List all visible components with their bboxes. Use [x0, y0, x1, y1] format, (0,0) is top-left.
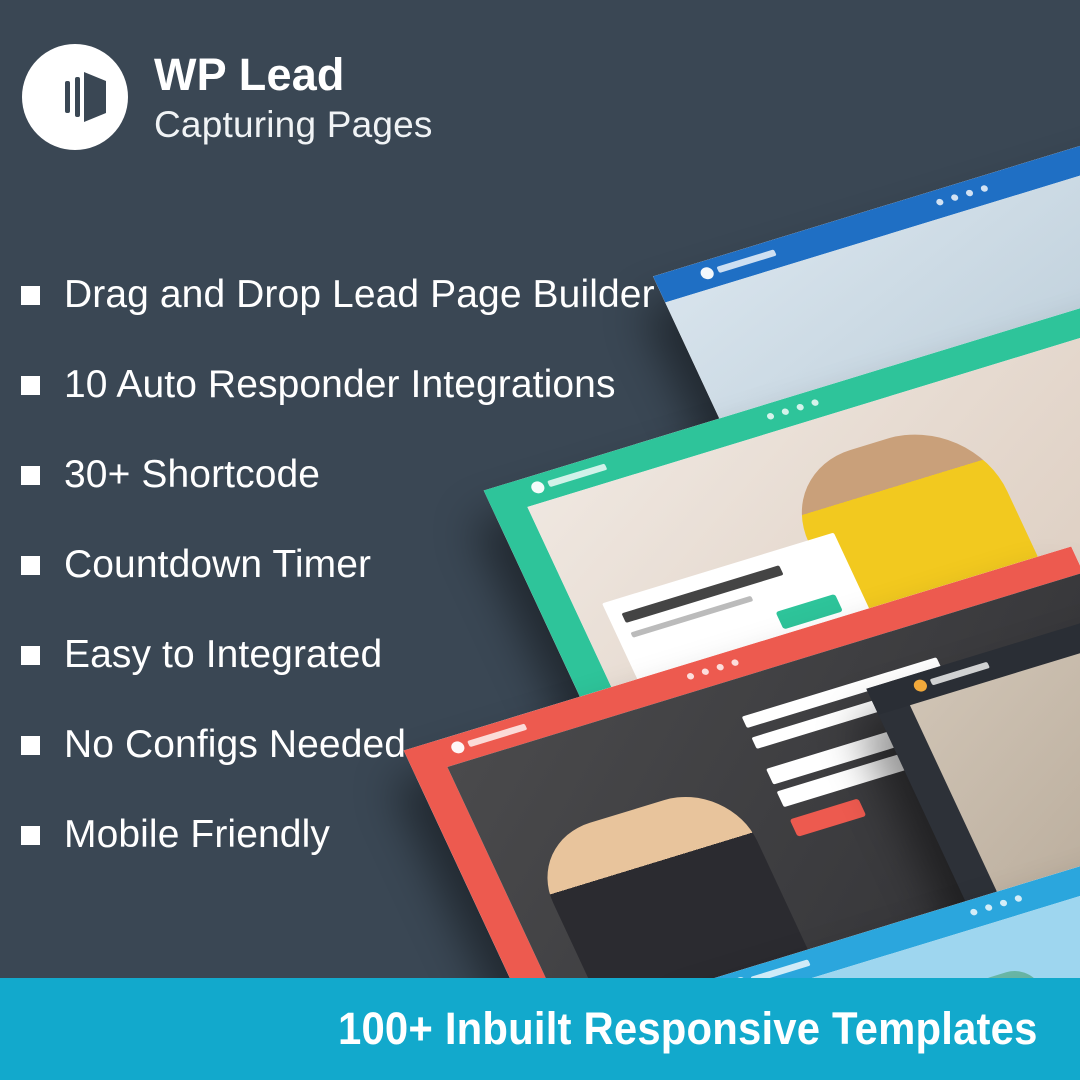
promo-banner-canvas: WP Lead Capturing Pages Drag and Drop Le…: [0, 0, 1080, 1080]
bottom-banner-text: 100+ Inbuilt Responsive Templates: [338, 1003, 1038, 1055]
square-bullet-icon: [21, 556, 40, 575]
feature-list: Drag and Drop Lead Page Builder 10 Auto …: [18, 250, 778, 880]
feature-item-0: Drag and Drop Lead Page Builder: [18, 250, 778, 340]
feature-label: Drag and Drop Lead Page Builder: [64, 273, 655, 317]
square-bullet-icon: [21, 826, 40, 845]
feature-label: No Configs Needed: [64, 723, 406, 767]
feature-label: Mobile Friendly: [64, 813, 330, 857]
bottom-banner: 100+ Inbuilt Responsive Templates: [0, 978, 1080, 1080]
feature-item-4: Easy to Integrated: [18, 610, 778, 700]
feature-label: Countdown Timer: [64, 543, 371, 587]
feature-item-1: 10 Auto Responder Integrations: [18, 340, 778, 430]
square-bullet-icon: [21, 376, 40, 395]
wp-lead-circle-logo-icon: [22, 44, 128, 150]
mockup-hero-cta-button[interactable]: [790, 798, 867, 836]
square-bullet-icon: [21, 466, 40, 485]
feature-item-3: Countdown Timer: [18, 520, 778, 610]
brand-text-block: WP Lead Capturing Pages: [154, 52, 433, 143]
square-bullet-icon: [21, 646, 40, 665]
feature-item-6: Mobile Friendly: [18, 790, 778, 880]
feature-label: 10 Auto Responder Integrations: [64, 363, 616, 407]
brand-header: WP Lead Capturing Pages: [22, 44, 433, 150]
feature-label: 30+ Shortcode: [64, 453, 320, 497]
feature-item-5: No Configs Needed: [18, 700, 778, 790]
square-bullet-icon: [21, 286, 40, 305]
square-bullet-icon: [21, 736, 40, 755]
brand-title: WP Lead: [154, 52, 433, 97]
brand-subtitle: Capturing Pages: [154, 106, 433, 143]
feature-item-2: 30+ Shortcode: [18, 430, 778, 520]
feature-label: Easy to Integrated: [64, 633, 382, 677]
